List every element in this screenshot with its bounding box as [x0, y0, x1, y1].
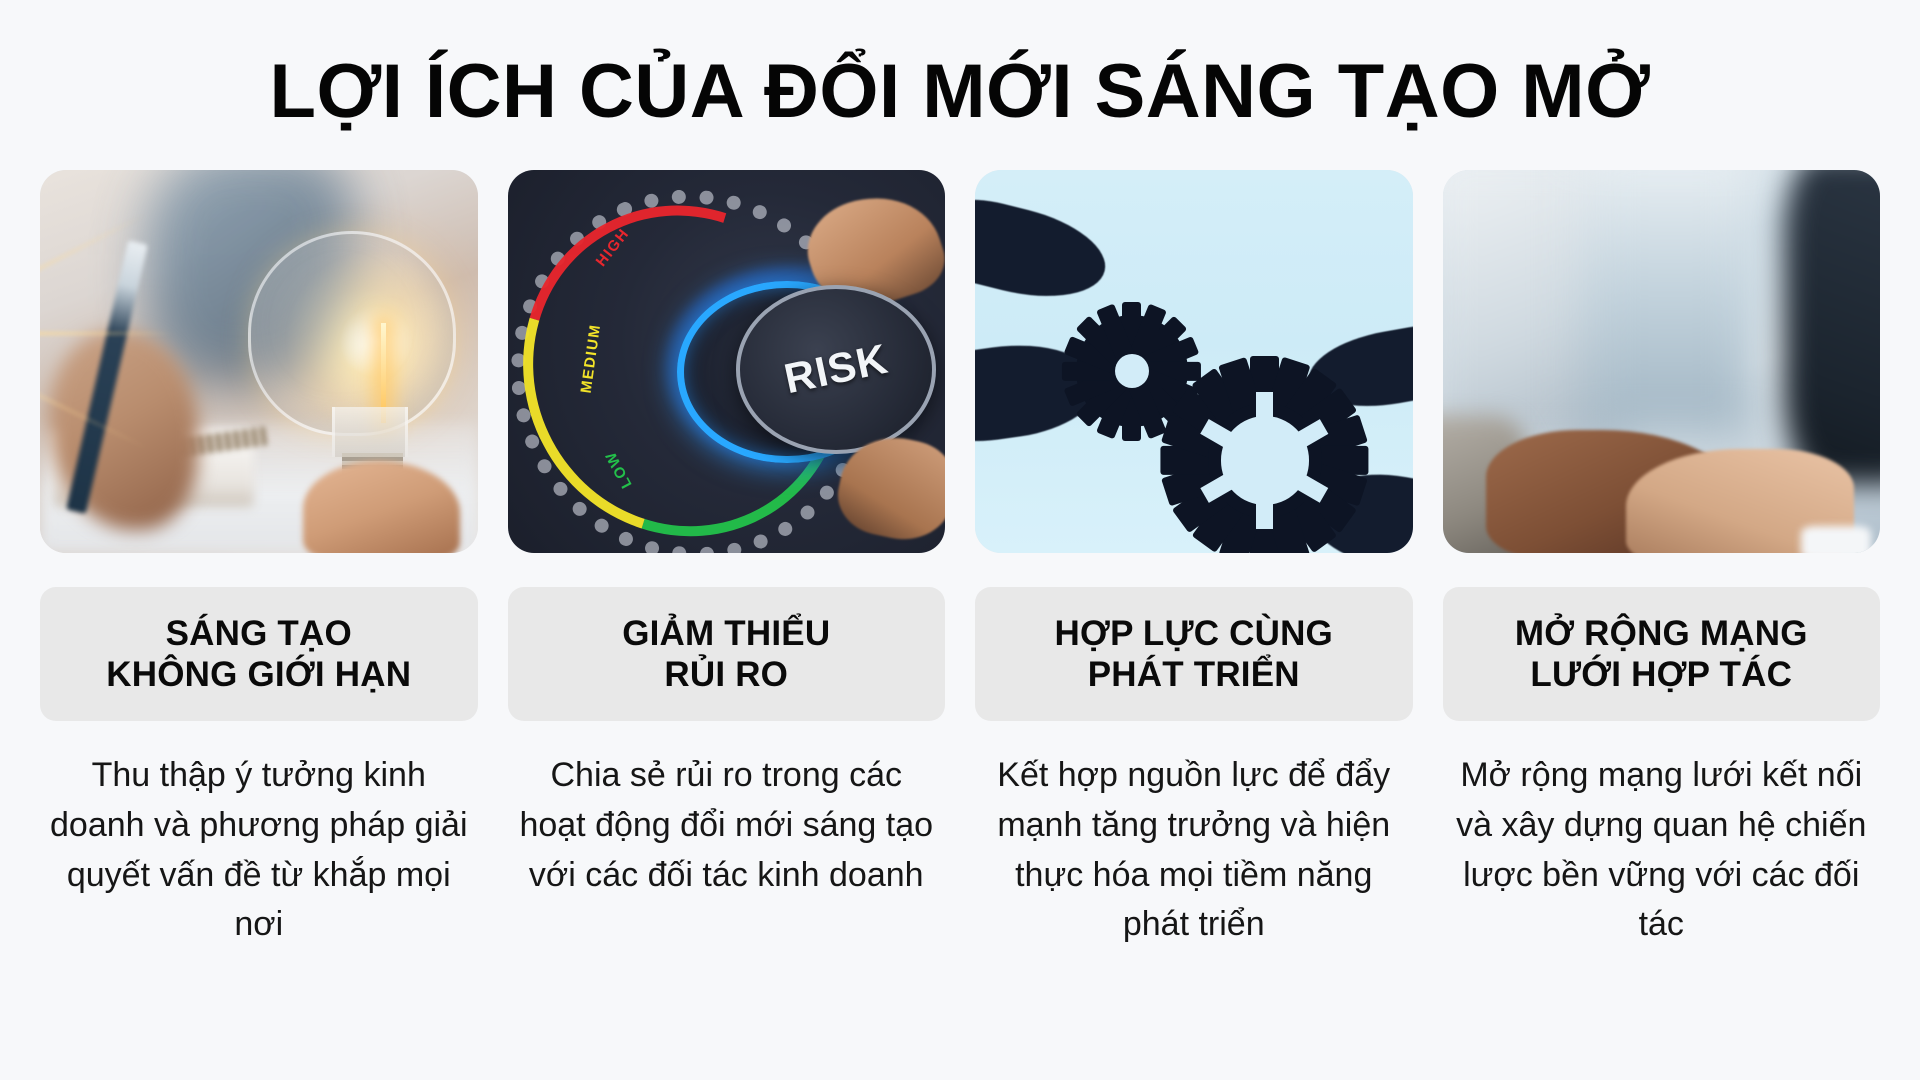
shirt-cuff-shape	[1801, 526, 1871, 553]
card-heading-box-2: GIẢM THIỂU RỦI RO	[508, 587, 946, 722]
handshake-photo	[1443, 170, 1881, 553]
benefit-card-3: HỢP LỰC CÙNG PHÁT TRIỂN Kết hợp nguồn lự…	[975, 170, 1413, 950]
card-body-text-3: Kết hợp nguồn lực để đẩy mạnh tăng trưởn…	[975, 751, 1413, 950]
small-gear-icon	[1076, 315, 1188, 427]
card-heading-label: GIẢM THIỂU RỦI RO	[622, 613, 830, 696]
light-flare-horizontal	[40, 331, 175, 336]
photo-background	[40, 170, 478, 553]
dark-suit-shape	[1784, 170, 1880, 484]
card-body-text-2: Chia sẻ rủi ro trong các hoạt động đổi m…	[508, 751, 946, 900]
lightbulb-glass	[248, 231, 455, 436]
card-heading-box-1: SÁNG TẠO KHÔNG GIỚI HẠN	[40, 587, 478, 722]
card-heading-label: SÁNG TẠO KHÔNG GIỚI HẠN	[106, 613, 411, 696]
benefit-card-grid: SÁNG TẠO KHÔNG GIỚI HẠN Thu thập ý tưởng…	[40, 170, 1880, 950]
card-body-text-4: Mở rộng mạng lưới kết nối và xây dựng qu…	[1443, 751, 1881, 950]
knob-face: RISK	[736, 285, 937, 454]
lightbulb-idea-photo	[40, 170, 478, 553]
infographic-page: LỢI ÍCH CỦA ĐỔI MỚI SÁNG TẠO MỞ	[0, 0, 1920, 1080]
benefit-card-2: HIGH MEDIUM LOW RISK GIẢM THIỂU RỦI RO C…	[508, 170, 946, 900]
card-body-text-1: Thu thập ý tưởng kinh doanh và phương ph…	[40, 751, 478, 950]
photo-background	[975, 170, 1413, 553]
card-heading-box-3: HỢP LỰC CÙNG PHÁT TRIỂN	[975, 587, 1413, 722]
risk-dial-photo: HIGH MEDIUM LOW RISK	[508, 170, 946, 553]
hand-silhouette-top-left	[975, 187, 1114, 313]
photo-background: HIGH MEDIUM LOW RISK	[508, 170, 946, 553]
gears-collaboration-photo	[975, 170, 1413, 553]
benefit-card-4: MỞ RỘNG MẠNG LƯỚI HỢP TÁC Mở rộng mạng l…	[1443, 170, 1881, 950]
page-title: LỢI ÍCH CỦA ĐỔI MỚI SÁNG TẠO MỞ	[270, 52, 1651, 132]
benefit-card-1: SÁNG TẠO KHÔNG GIỚI HẠN Thu thập ý tưởng…	[40, 170, 478, 950]
lightbulb-neck	[332, 407, 408, 457]
knob-risk-label: RISK	[780, 335, 892, 404]
large-gear-icon	[1181, 377, 1349, 545]
card-heading-box-4: MỞ RỘNG MẠNG LƯỚI HỢP TÁC	[1443, 587, 1881, 722]
card-heading-label: MỞ RỘNG MẠNG LƯỚI HỢP TÁC	[1515, 613, 1808, 696]
card-heading-label: HỢP LỰC CÙNG PHÁT TRIỂN	[1055, 613, 1333, 696]
photo-background	[1443, 170, 1881, 553]
blurred-background-middle	[1583, 170, 1758, 438]
